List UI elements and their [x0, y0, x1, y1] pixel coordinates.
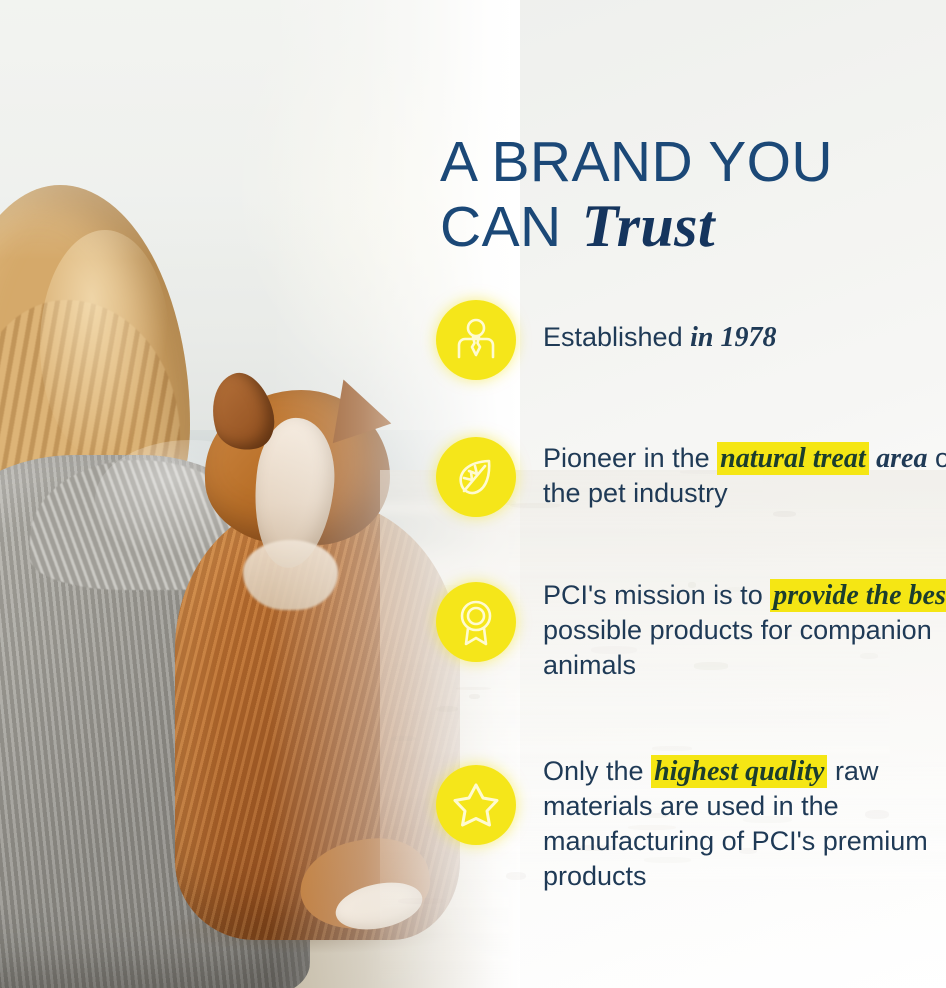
headline-script-text: Trust	[582, 193, 715, 259]
leaf-icon	[436, 437, 516, 517]
page-title: A BRAND YOU CAN Trust	[440, 130, 946, 259]
award-ribbon-icon	[436, 582, 516, 662]
feature-item-established: Established in 1978	[436, 300, 776, 380]
feature-text-pioneer: Pioneer in the natural treat area of the…	[543, 437, 946, 511]
feature-text-quality: Only the highest quality raw materials a…	[543, 750, 946, 894]
businessperson-icon	[436, 300, 516, 380]
headline-line-2: CAN Trust	[440, 194, 946, 259]
headline-script-word: Trust	[578, 193, 719, 259]
feature-text-established: Established in 1978	[543, 300, 776, 355]
feature-item-pioneer: Pioneer in the natural treat area of the…	[436, 437, 946, 517]
star-icon	[436, 765, 516, 845]
headline-line-2-prefix: CAN	[440, 195, 562, 259]
feature-text-mission: PCI's mission is to provide the best pos…	[543, 574, 946, 683]
headline-line-1: A BRAND YOU	[440, 130, 946, 194]
brand-trust-banner: A BRAND YOU CAN Trust Established in 197…	[0, 0, 946, 988]
feature-item-quality: Only the highest quality raw materials a…	[436, 750, 946, 894]
feature-item-mission: PCI's mission is to provide the best pos…	[436, 574, 946, 683]
